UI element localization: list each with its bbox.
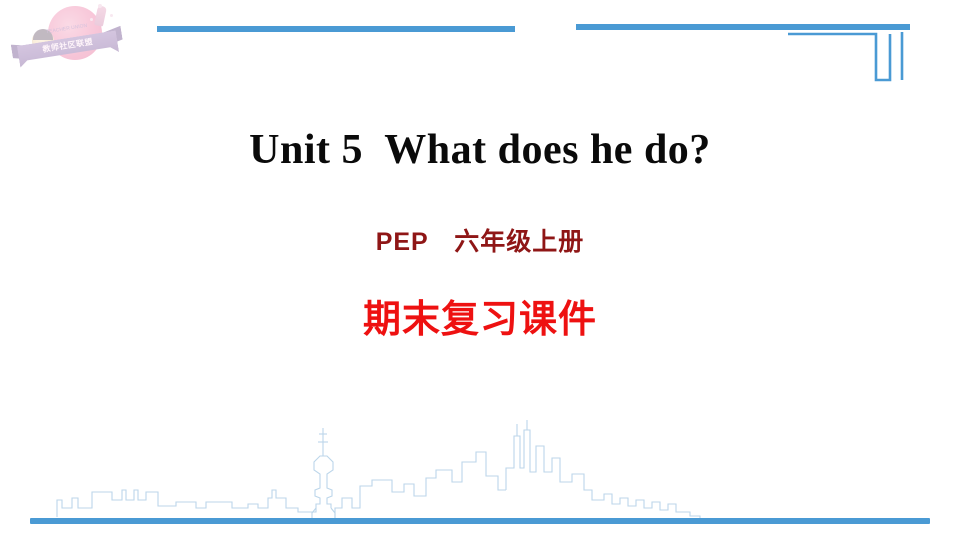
logo-figure-icon [94,5,107,26]
city-skyline-decoration [0,412,960,522]
logo-sparkle-icon [110,14,113,17]
publisher-ribbon-logo: TEACHER UNION 教师社区联盟 [12,0,124,84]
page-tagline: 期末复习课件 [0,288,960,343]
top-bracket-decoration [788,30,913,82]
logo-sparkle-icon [98,4,102,8]
bottom-baseline-rule [30,518,930,524]
logo-sparkle-icon [90,18,93,21]
top-rule-left [157,26,515,32]
slide-canvas: TEACHER UNION 教师社区联盟 Unit 5 What does he… [0,0,960,540]
page-subtitle: PEP 六年级上册 [0,222,960,258]
page-title: Unit 5 What does he do? [0,126,960,174]
